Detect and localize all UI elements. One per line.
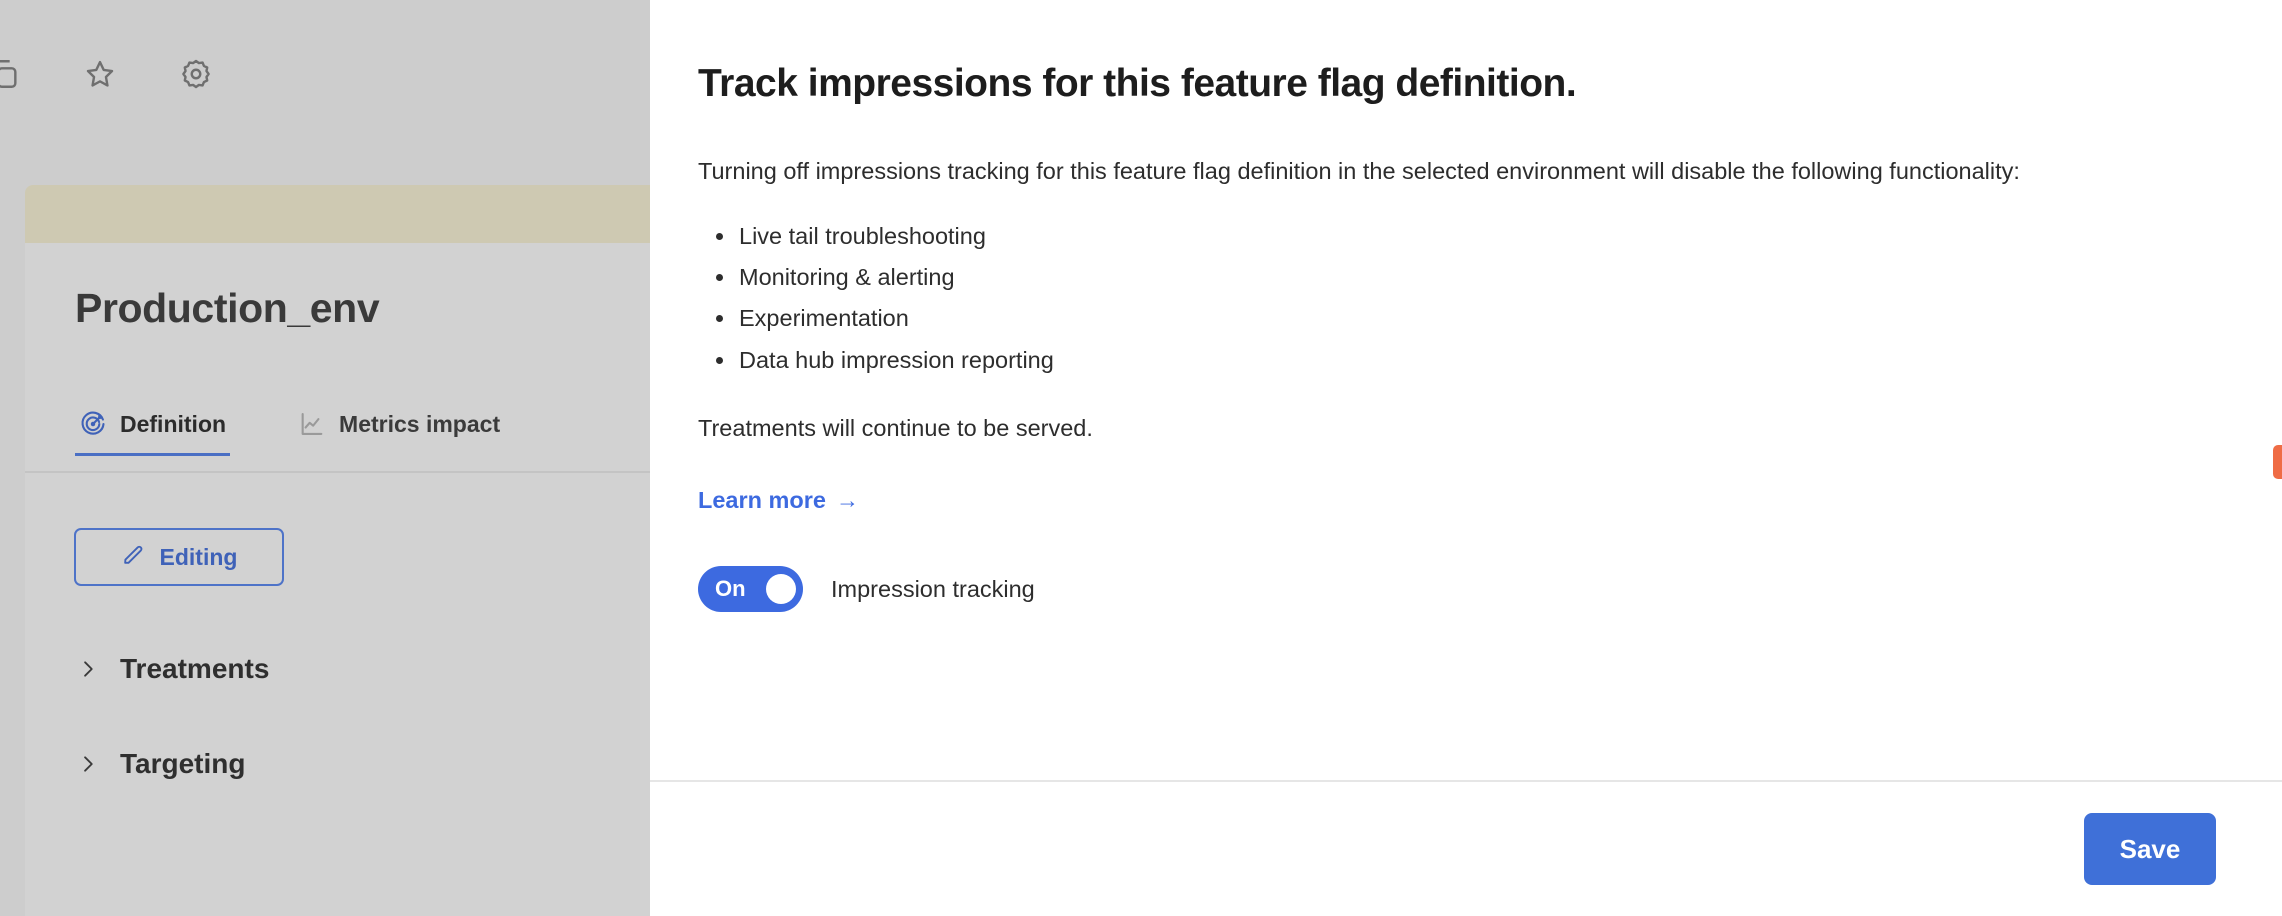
definition-tabs: Definition Metrics impact [75, 410, 526, 456]
learn-more-link[interactable]: Learn more → [698, 487, 859, 514]
gear-icon[interactable] [174, 52, 218, 96]
pencil-icon [121, 542, 146, 573]
section-targeting[interactable]: Targeting [78, 748, 245, 780]
impression-tracking-row: On Impression tracking [698, 566, 2212, 612]
modal-note-text: Treatments will continue to be served. [698, 409, 2212, 447]
section-treatments-label: Treatments [120, 653, 269, 685]
impression-tracking-toggle[interactable]: On [698, 566, 803, 612]
list-item: Experimentation [698, 298, 2212, 339]
duplicate-icon[interactable] [0, 52, 26, 96]
disabled-functionality-list: Live tail troubleshooting Monitoring & a… [698, 216, 2212, 381]
editing-button[interactable]: Editing [74, 528, 284, 586]
editing-button-label: Editing [160, 544, 238, 571]
impression-tracking-modal: Track impressions for this feature flag … [650, 0, 2282, 916]
list-item: Data hub impression reporting [698, 340, 2212, 381]
chevron-right-icon [78, 752, 98, 776]
section-targeting-label: Targeting [120, 748, 245, 780]
feedback-tab-sliver[interactable] [2273, 445, 2282, 479]
environment-title: Production_env [75, 285, 379, 332]
list-item: Monitoring & alerting [698, 257, 2212, 298]
toggle-knob [766, 574, 796, 604]
modal-title: Track impressions for this feature flag … [698, 60, 2212, 108]
save-button[interactable]: Save [2084, 813, 2216, 885]
modal-intro-text: Turning off impressions tracking for thi… [698, 152, 2212, 190]
learn-more-label: Learn more [698, 487, 826, 514]
screen-root: Production_env Definition [0, 0, 2282, 916]
backdrop-toolbar [0, 48, 218, 100]
tabs-divider [25, 471, 650, 473]
star-icon[interactable] [78, 52, 122, 96]
chevron-right-icon [78, 657, 98, 681]
section-treatments[interactable]: Treatments [78, 653, 269, 685]
target-edit-icon [79, 410, 107, 438]
impression-tracking-label: Impression tracking [831, 576, 1035, 603]
tab-metrics-impact-label: Metrics impact [339, 411, 500, 438]
tab-definition[interactable]: Definition [75, 410, 252, 456]
tab-metrics-impact[interactable]: Metrics impact [252, 410, 526, 456]
tab-definition-label: Definition [120, 411, 226, 438]
toggle-state-label: On [715, 576, 746, 602]
modal-body: Track impressions for this feature flag … [650, 0, 2282, 780]
modal-footer: Save [650, 782, 2282, 916]
arrow-right-icon: → [836, 489, 859, 512]
notice-banner [25, 185, 650, 243]
line-chart-icon [298, 410, 326, 438]
background-app: Production_env Definition [0, 0, 650, 916]
list-item: Live tail troubleshooting [698, 216, 2212, 257]
